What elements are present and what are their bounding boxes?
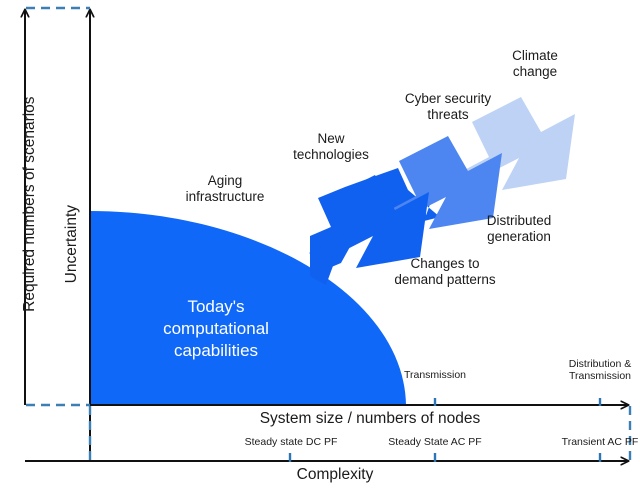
outer-x-axis-label: Complexity bbox=[245, 466, 425, 484]
driver-label-changes-to-demand-patterns: Changes to demand patterns bbox=[375, 256, 515, 288]
inner-x-axis-label: System size / numbers of nodes bbox=[205, 410, 535, 428]
outer-x-tick-label-1: Steady state DC PF bbox=[228, 436, 354, 448]
driver-label-cyber-security-threats: Cyber security threats bbox=[383, 91, 513, 123]
driver-label-new-technologies: New technologies bbox=[271, 131, 391, 163]
driver-label-climate-change: Climate change bbox=[483, 48, 587, 80]
inner-x-tick-label-1: Transmission bbox=[375, 369, 495, 381]
outer-x-tick-label-2: Steady State AC PF bbox=[372, 436, 498, 448]
inner-x-tick-label-2: Distribution & Transmission bbox=[545, 358, 640, 383]
capabilities-region-label: Today's computational capabilities bbox=[118, 296, 314, 361]
driver-label-distributed-generation: Distributed generation bbox=[459, 213, 579, 245]
inner-y-axis-label: Uncertainty bbox=[63, 159, 81, 329]
outer-x-tick-label-3: Transient AC PF bbox=[545, 436, 640, 448]
driver-label-aging-infrastructure: Aging infrastructure bbox=[160, 173, 290, 205]
outer-y-axis-label: Required numbers of scenarios bbox=[21, 54, 39, 354]
diagram-canvas: Required numbers of scenarios Uncertaint… bbox=[0, 0, 640, 492]
